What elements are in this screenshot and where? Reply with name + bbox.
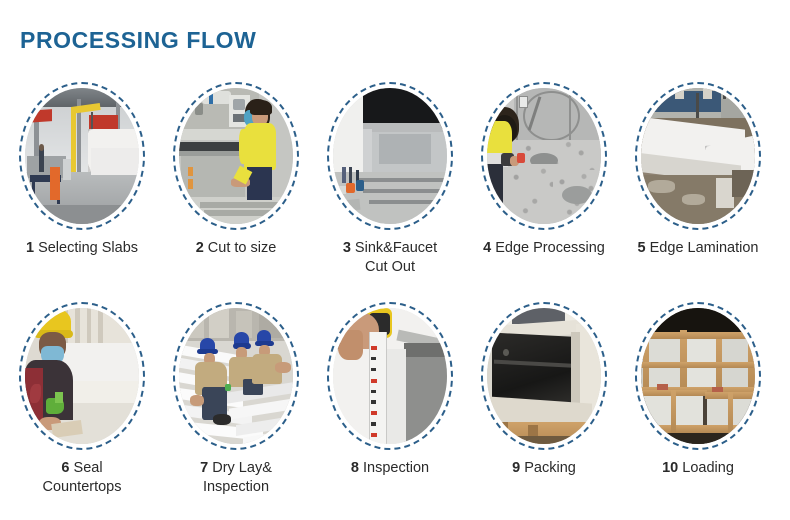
flow-step-4-photo: [487, 88, 601, 224]
flow-step-6[interactable]: 6 SealCountertops: [8, 302, 156, 496]
flow-step-3-bubble: [327, 82, 453, 230]
flow-step-1[interactable]: 1 Selecting Slabs: [8, 82, 156, 258]
flow-step-9-bubble: [481, 302, 607, 450]
flow-step-1-caption: 1 Selecting Slabs: [8, 239, 156, 258]
flow-step-2-caption: 2 Cut to size: [162, 239, 310, 258]
flow-step-6-photo: [25, 308, 139, 444]
flow-step-6-caption: 6 SealCountertops: [8, 459, 156, 496]
flow-step-8-caption: 8 Inspection: [316, 459, 464, 478]
flow-step-9-photo: [487, 308, 601, 444]
flow-step-5[interactable]: 5 Edge Lamination: [624, 82, 772, 258]
flow-step-4[interactable]: 4 Edge Processing: [470, 82, 618, 258]
flow-step-10-photo: [641, 308, 755, 444]
flow-step-7-caption: 7 Dry Lay&Inspection: [162, 459, 310, 496]
flow-step-8[interactable]: 8 Inspection: [316, 302, 464, 478]
flow-step-7[interactable]: 7 Dry Lay&Inspection: [162, 302, 310, 496]
flow-step-5-bubble: [635, 82, 761, 230]
flow-step-5-photo: [641, 88, 755, 224]
flow-step-9-caption: 9 Packing: [470, 459, 618, 478]
page-title: PROCESSING FLOW: [20, 27, 256, 54]
flow-step-8-photo: [333, 308, 447, 444]
flow-step-5-caption: 5 Edge Lamination: [624, 239, 772, 258]
flow-step-10-bubble: [635, 302, 761, 450]
flow-step-2[interactable]: 2 Cut to size: [162, 82, 310, 258]
flow-step-7-bubble: [173, 302, 299, 450]
flow-step-10-caption: 10 Loading: [624, 459, 772, 478]
flow-step-8-bubble: [327, 302, 453, 450]
flow-step-2-photo: [179, 88, 293, 224]
flow-step-4-bubble: [481, 82, 607, 230]
flow-step-2-bubble: [173, 82, 299, 230]
flow-step-10[interactable]: 10 Loading: [624, 302, 772, 478]
flow-step-3[interactable]: 3 Sink&FaucetCut Out: [316, 82, 464, 276]
flow-step-6-bubble: [19, 302, 145, 450]
processing-flow-page: PROCESSING FLOW: [0, 0, 790, 520]
flow-step-1-bubble: [19, 82, 145, 230]
flow-step-9[interactable]: 9 Packing: [470, 302, 618, 478]
flow-step-4-caption: 4 Edge Processing: [470, 239, 618, 258]
flow-step-3-caption: 3 Sink&FaucetCut Out: [316, 239, 464, 276]
flow-step-1-photo: [25, 88, 139, 224]
flow-step-7-photo: [179, 308, 293, 444]
flow-step-3-photo: [333, 88, 447, 224]
